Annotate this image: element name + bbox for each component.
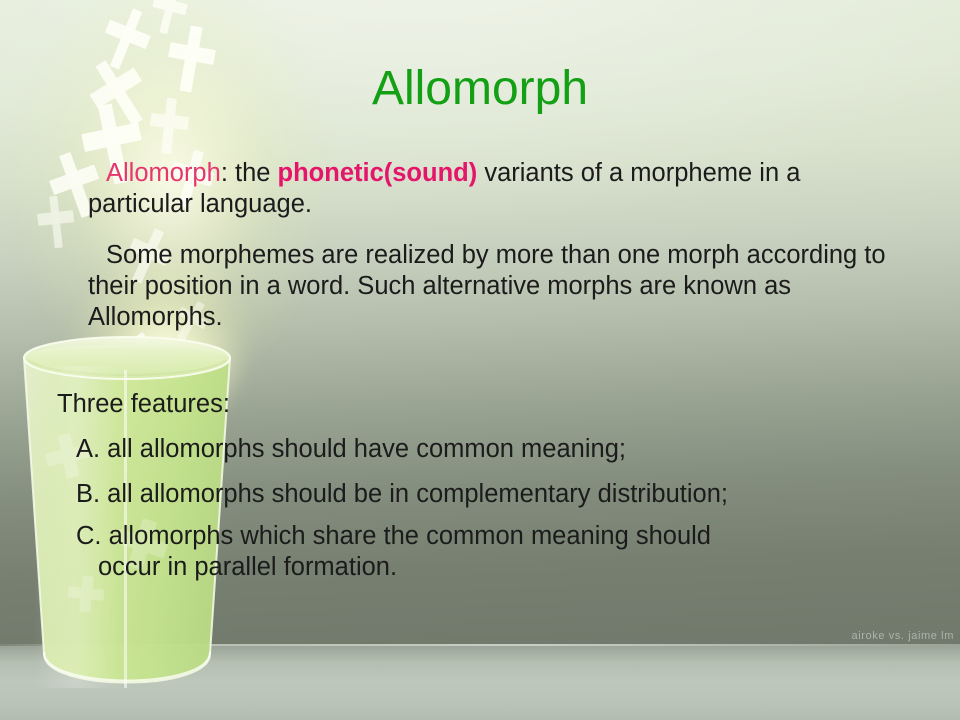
watermark: airoke vs. jaime lm <box>852 630 954 642</box>
lead-separator: : the <box>221 159 278 187</box>
feature-item-b: B. all allomorphs should be in complemen… <box>76 479 916 510</box>
feature-item-c: C. allomorphs which share the common mea… <box>76 521 906 583</box>
definition-paragraph: Allomorph: the phonetic(sound) variants … <box>88 158 878 220</box>
highlighted-term: phonetic(sound) <box>278 159 478 187</box>
features-heading: Three features: <box>57 389 230 420</box>
lead-term: Allomorph <box>106 159 221 187</box>
feature-item-a: A. all allomorphs should have common mea… <box>76 434 916 465</box>
slide-canvas: Allomorph Allomorph: the phonetic(sound)… <box>0 0 960 720</box>
feature-item-c-line1: C. allomorphs which share the common mea… <box>76 522 711 550</box>
feature-item-c-line2: occur in parallel formation. <box>76 552 906 583</box>
explanation-paragraph: Some morphemes are realized by more than… <box>88 240 903 333</box>
slide-title: Allomorph <box>0 60 960 118</box>
